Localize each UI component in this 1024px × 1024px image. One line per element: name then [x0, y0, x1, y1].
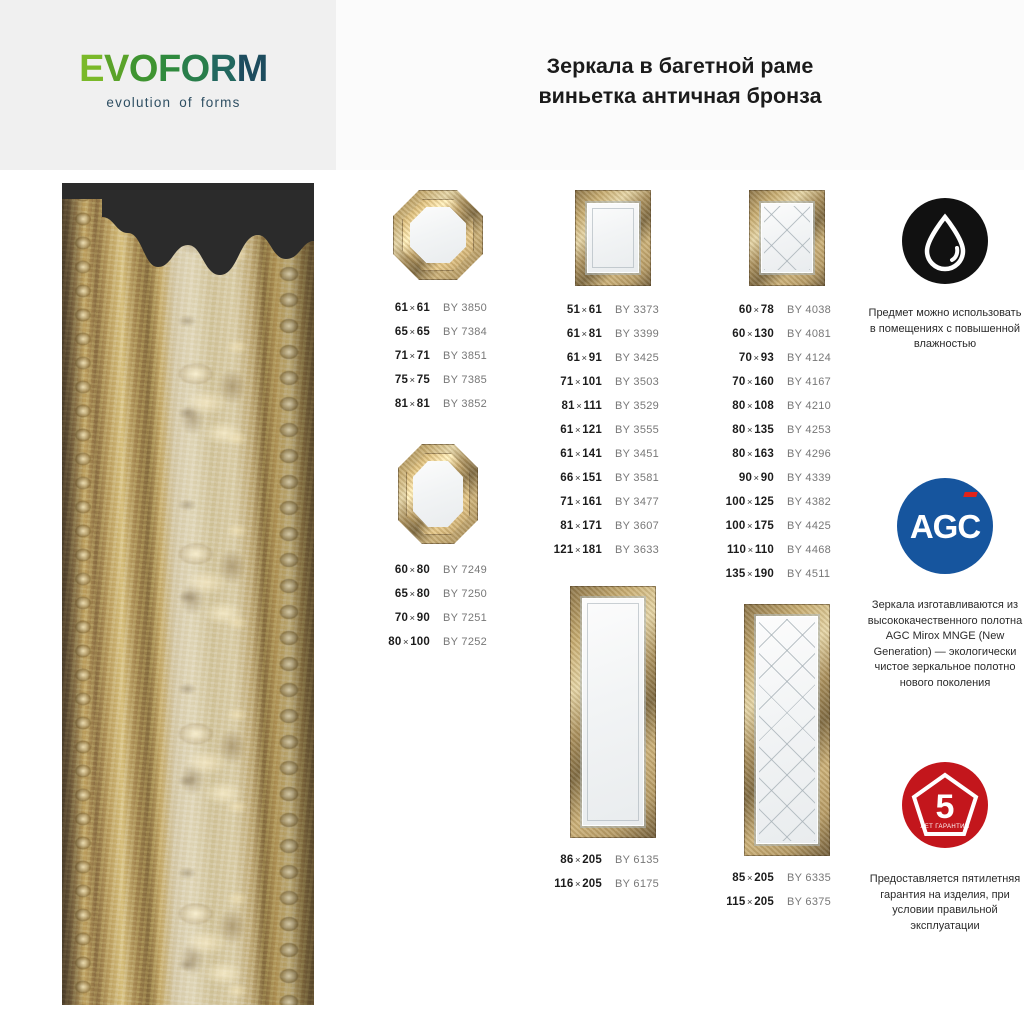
size-article-code: BY 3503 — [602, 376, 659, 388]
size-dimensions: 71×161 — [540, 496, 602, 508]
agc-logo-text: AGC — [910, 510, 980, 543]
size-article-code: BY 3555 — [602, 424, 659, 436]
agc-logo-accent — [963, 492, 978, 497]
size-dimensions: 71×101 — [540, 376, 602, 388]
size-row[interactable]: 61×91BY 3425 — [540, 352, 685, 376]
size-article-code: BY 4468 — [774, 544, 831, 556]
size-dimensions: 80×100 — [368, 636, 430, 648]
size-dimensions: 75×75 — [368, 374, 430, 386]
size-article-code: BY 4167 — [774, 376, 831, 388]
svg-text:ЛЕТ ГАРАНТИИ: ЛЕТ ГАРАНТИИ — [920, 824, 969, 830]
size-article-code: BY 4124 — [774, 352, 831, 364]
mirror-glass — [413, 461, 463, 527]
size-row[interactable]: 80×163BY 4296 — [712, 448, 862, 472]
size-row[interactable]: 70×90BY 7251 — [368, 612, 508, 636]
size-article-code: BY 7252 — [430, 636, 487, 648]
size-article-code: BY 3373 — [602, 304, 659, 316]
size-article-code: BY 3850 — [430, 302, 487, 314]
size-article-code: BY 4511 — [774, 568, 830, 580]
size-dimensions: 70×90 — [368, 612, 430, 624]
size-article-code: BY 6335 — [774, 872, 831, 884]
brand-wordmark: EVOFORM — [66, 50, 281, 88]
size-dimensions: 70×93 — [712, 352, 774, 364]
size-article-code: BY 4425 — [774, 520, 831, 532]
size-row[interactable]: 115×205BY 6375 — [712, 896, 862, 920]
size-article-code: BY 7250 — [430, 588, 487, 600]
frame-profile-sample — [62, 183, 314, 1005]
feature-agc-caption: Зеркала изготавливаются из высококачеств… — [866, 598, 1024, 692]
size-row[interactable]: 70×93BY 4124 — [712, 352, 862, 376]
size-dimensions: 115×205 — [712, 896, 774, 908]
size-dimensions: 100×175 — [712, 520, 774, 532]
size-dimensions: 70×160 — [712, 376, 774, 388]
size-dimensions: 90×90 — [712, 472, 774, 484]
catalog-page: EVOFORM evolution of forms Зеркала в баг… — [0, 0, 1024, 1024]
size-list-floor-engraved: 85×205BY 6335115×205BY 6375 — [712, 872, 862, 920]
rectangular-mirror-thumb[interactable] — [575, 190, 651, 286]
size-row[interactable]: 61×61BY 3850 — [368, 302, 508, 326]
size-list-rectangle: 51×61BY 337361×81BY 339961×91BY 342571×1… — [540, 304, 685, 568]
feature-warranty-caption: Предоставляется пятилетняя гарантия на и… — [866, 872, 1024, 934]
size-row[interactable]: 65×80BY 7250 — [368, 588, 508, 612]
size-dimensions: 61×121 — [540, 424, 602, 436]
brand-letter: O — [181, 50, 210, 88]
product-column-octagon: 61×61BY 385065×65BY 738471×71BY 385175×7… — [368, 190, 508, 660]
size-dimensions: 66×151 — [540, 472, 602, 484]
size-article-code: BY 4253 — [774, 424, 831, 436]
size-dimensions: 60×80 — [368, 564, 430, 576]
size-article-code: BY 7251 — [430, 612, 487, 624]
size-article-code: BY 3529 — [602, 400, 659, 412]
octagon-tall-mirror-thumb[interactable] — [398, 444, 478, 544]
size-article-code: BY 3851 — [430, 350, 487, 362]
size-article-code: BY 4296 — [774, 448, 831, 460]
size-row[interactable]: 60×78BY 4038 — [712, 304, 862, 328]
brand-letter: V — [104, 50, 129, 88]
size-article-code: BY 6175 — [602, 878, 659, 890]
size-row[interactable]: 135×190BY 4511 — [712, 568, 862, 592]
size-dimensions: 81×171 — [540, 520, 602, 532]
size-article-code: BY 7384 — [430, 326, 487, 338]
size-row[interactable]: 61×81BY 3399 — [540, 328, 685, 352]
size-row[interactable]: 71×161BY 3477 — [540, 496, 685, 520]
size-row[interactable]: 75×75BY 7385 — [368, 374, 508, 398]
octagon-mirror-thumb[interactable] — [393, 190, 483, 280]
size-article-code: BY 3451 — [602, 448, 659, 460]
size-article-code: BY 3633 — [602, 544, 659, 556]
brand-letter: O — [129, 50, 158, 88]
product-column-rectangle: 51×61BY 337361×81BY 339961×91BY 342571×1… — [540, 190, 685, 902]
size-row[interactable]: 80×100BY 7252 — [368, 636, 508, 660]
size-dimensions: 61×91 — [540, 352, 602, 364]
size-dimensions: 60×130 — [712, 328, 774, 340]
brand-letter: F — [158, 50, 181, 88]
size-dimensions: 81×81 — [368, 398, 430, 410]
warranty-5-years-icon: 5 ЛЕТ ГАРАНТИИ — [902, 762, 988, 848]
size-row[interactable]: 71×101BY 3503 — [540, 376, 685, 400]
size-row[interactable]: 81×111BY 3529 — [540, 400, 685, 424]
size-row[interactable]: 70×160BY 4167 — [712, 376, 862, 400]
size-dimensions: 81×111 — [540, 400, 602, 412]
size-article-code: BY 3425 — [602, 352, 659, 364]
page-title-line2: виньетка античная бронза — [336, 82, 1024, 112]
size-article-code: BY 4339 — [774, 472, 831, 484]
size-list-octagon: 61×61BY 385065×65BY 738471×71BY 385175×7… — [368, 302, 508, 422]
page-title: Зеркала в багетной раме виньетка антична… — [336, 52, 1024, 111]
size-dimensions: 116×205 — [540, 878, 602, 890]
size-article-code: BY 3581 — [602, 472, 659, 484]
page-header: EVOFORM evolution of forms Зеркала в баг… — [0, 0, 1024, 172]
size-article-code: BY 6135 — [602, 854, 659, 866]
size-row[interactable]: 51×61BY 3373 — [540, 304, 685, 328]
feature-warranty: 5 ЛЕТ ГАРАНТИИ Предоставляется пятилетня… — [866, 762, 1024, 934]
mirror-glass — [410, 207, 466, 263]
size-row[interactable]: 61×141BY 3451 — [540, 448, 685, 472]
agc-logo-icon: AGC — [897, 478, 993, 574]
frame-profile-shading — [62, 183, 314, 1005]
size-dimensions: 65×65 — [368, 326, 430, 338]
size-dimensions: 51×61 — [540, 304, 602, 316]
floor-mirror-plain-thumb[interactable] — [570, 586, 656, 838]
size-article-code: BY 6375 — [774, 896, 831, 908]
page-title-line1: Зеркала в багетной раме — [336, 52, 1024, 82]
floor-mirror-engraved-thumb[interactable] — [744, 604, 830, 856]
size-row[interactable]: 71×71BY 3851 — [368, 350, 508, 374]
size-row[interactable]: 65×65BY 7384 — [368, 326, 508, 350]
size-dimensions: 110×110 — [712, 544, 774, 556]
size-dimensions: 71×71 — [368, 350, 430, 362]
product-column-engraved: 60×78BY 403860×130BY 408170×93BY 412470×… — [712, 190, 862, 920]
size-row[interactable]: 121×181BY 3633 — [540, 544, 685, 568]
mirror-glass — [582, 598, 644, 826]
size-dimensions: 135×190 — [712, 568, 774, 580]
size-row[interactable]: 90×90BY 4339 — [712, 472, 862, 496]
brand-letter: M — [237, 50, 268, 88]
size-row[interactable]: 81×171BY 3607 — [540, 520, 685, 544]
mirror-glass — [756, 616, 818, 844]
size-dimensions: 80×163 — [712, 448, 774, 460]
size-article-code: BY 4038 — [774, 304, 831, 316]
feature-humidity-caption: Предмет можно использовать в помещениях … — [866, 306, 1024, 353]
size-row[interactable]: 80×108BY 4210 — [712, 400, 862, 424]
size-row[interactable]: 86×205BY 6135 — [540, 854, 685, 878]
size-dimensions: 85×205 — [712, 872, 774, 884]
size-list-engraved: 60×78BY 403860×130BY 408170×93BY 412470×… — [712, 304, 862, 592]
size-dimensions: 61×81 — [540, 328, 602, 340]
size-list-octagon-tall: 60×80BY 724965×80BY 725070×90BY 725180×1… — [368, 564, 508, 660]
size-article-code: BY 7385 — [430, 374, 487, 386]
size-dimensions: 86×205 — [540, 854, 602, 866]
size-row[interactable]: 66×151BY 3581 — [540, 472, 685, 496]
size-dimensions: 121×181 — [540, 544, 602, 556]
svg-text:5: 5 — [936, 788, 955, 826]
size-row[interactable]: 100×125BY 4382 — [712, 496, 862, 520]
size-row[interactable]: 80×135BY 4253 — [712, 424, 862, 448]
size-row[interactable]: 61×121BY 3555 — [540, 424, 685, 448]
feature-agc-glass: AGC Зеркала изготавливаются из высококач… — [866, 478, 1024, 692]
size-row[interactable]: 116×205BY 6175 — [540, 878, 685, 902]
size-dimensions: 60×78 — [712, 304, 774, 316]
size-dimensions: 61×141 — [540, 448, 602, 460]
size-row[interactable]: 110×110BY 4468 — [712, 544, 862, 568]
size-dimensions: 65×80 — [368, 588, 430, 600]
size-row[interactable]: 81×81BY 3852 — [368, 398, 508, 422]
size-row[interactable]: 60×80BY 7249 — [368, 564, 508, 588]
size-list-floor-plain: 86×205BY 6135116×205BY 6175 — [540, 854, 685, 902]
size-article-code: BY 4382 — [774, 496, 831, 508]
size-row[interactable]: 85×205BY 6335 — [712, 872, 862, 896]
size-row[interactable]: 60×130BY 4081 — [712, 328, 862, 352]
brand-letter: E — [79, 50, 104, 88]
size-dimensions: 80×108 — [712, 400, 774, 412]
size-article-code: BY 3852 — [430, 398, 487, 410]
brand-logo[interactable]: EVOFORM evolution of forms — [66, 50, 281, 110]
size-article-code: BY 3607 — [602, 520, 659, 532]
frame-profile-mirror-glass — [62, 183, 314, 283]
feature-humidity: Предмет можно использовать в помещениях … — [866, 198, 1024, 353]
size-article-code: BY 7249 — [430, 564, 487, 576]
engraved-lattice-mirror-thumb[interactable] — [749, 190, 825, 286]
size-row[interactable]: 100×175BY 4425 — [712, 520, 862, 544]
brand-tagline: evolution of forms — [66, 95, 281, 110]
size-dimensions: 100×125 — [712, 496, 774, 508]
size-article-code: BY 4210 — [774, 400, 831, 412]
size-article-code: BY 3399 — [602, 328, 659, 340]
mirror-glass — [761, 203, 813, 273]
size-article-code: BY 3477 — [602, 496, 659, 508]
mirror-glass — [587, 203, 639, 273]
size-dimensions: 61×61 — [368, 302, 430, 314]
size-article-code: BY 4081 — [774, 328, 831, 340]
size-dimensions: 80×135 — [712, 424, 774, 436]
brand-letter: R — [210, 50, 237, 88]
water-drop-icon — [902, 198, 988, 284]
